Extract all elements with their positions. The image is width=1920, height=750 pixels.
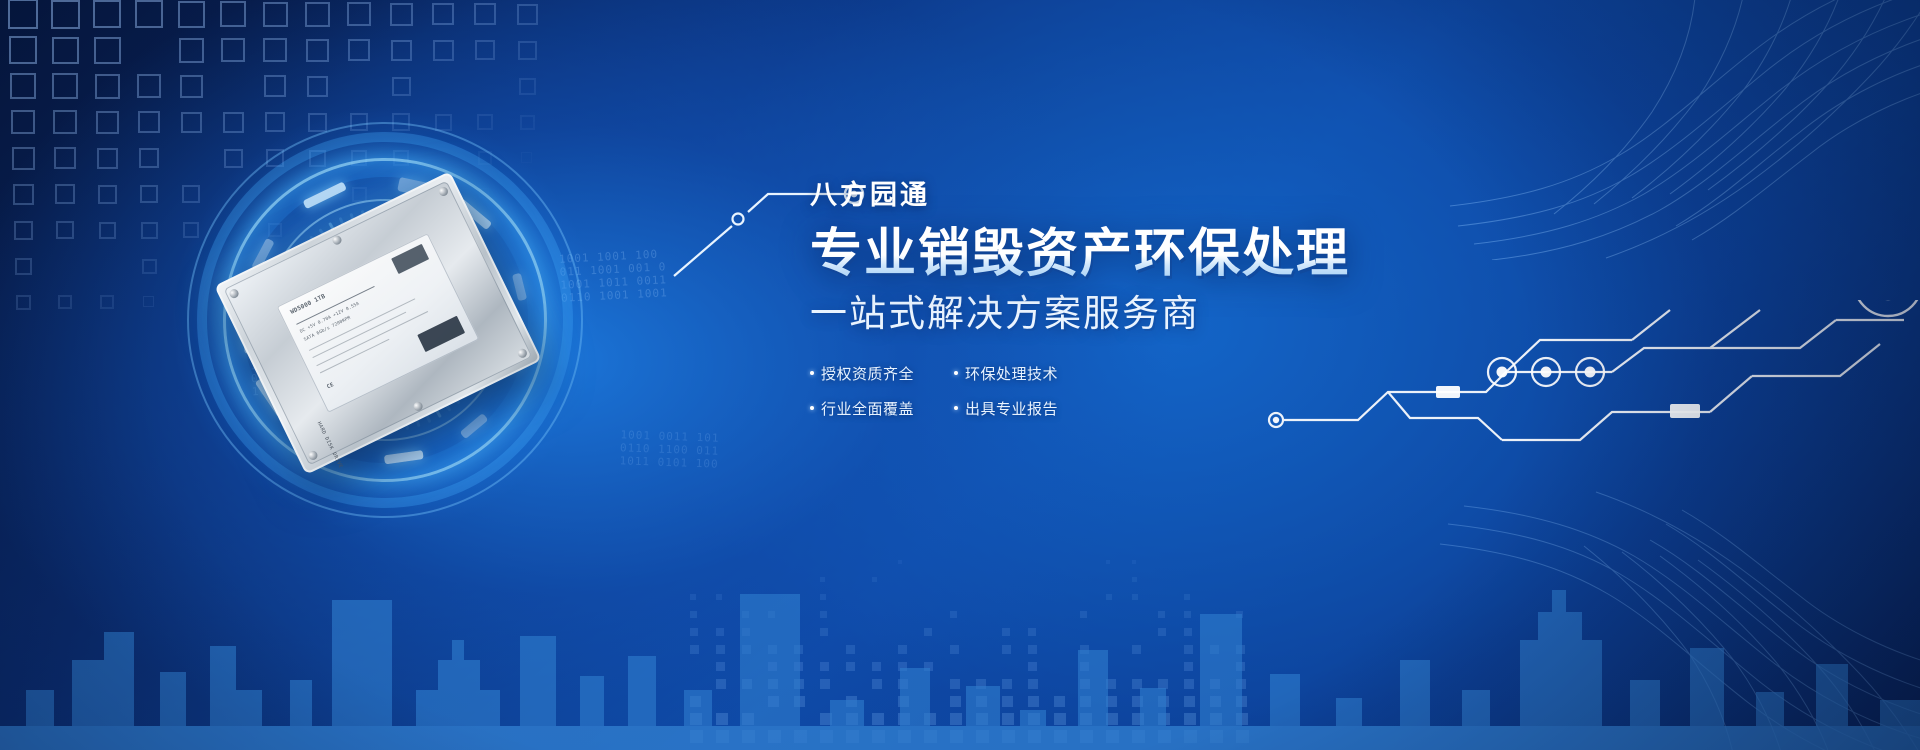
feature-label: 授权资质齐全: [821, 363, 914, 384]
feature-label: 出具专业报告: [965, 398, 1058, 419]
bullet-dot-icon: [954, 406, 958, 410]
subheadline: 一站式解决方案服务商: [810, 294, 1430, 335]
feature-item-3: 行业全面覆盖: [810, 398, 936, 419]
wireframe-mesh-top-right: [1430, 0, 1920, 260]
feature-item-1: 授权资质齐全: [810, 363, 936, 384]
promo-banner: 1001 1001 100 0110 1001 001 1001 1011 00…: [0, 0, 1920, 750]
banner-text-block: 八方园通 专业销毁资产环保处理 一站式解决方案服务商 授权资质齐全 环保处理技术…: [810, 182, 1430, 419]
feature-item-2: 环保处理技术: [954, 363, 1080, 384]
pixel-block-pattern: [690, 560, 1250, 750]
bullet-dot-icon: [810, 406, 814, 410]
headline: 专业销毁资产环保处理: [810, 226, 1430, 282]
feature-list: 授权资质齐全 环保处理技术 行业全面覆盖 出具专业报告: [810, 363, 1430, 419]
binary-stream-lower: 1001 0011 101 0110 1100 011 1011 0101 10…: [619, 428, 719, 470]
hdd-cert-mark: CE: [326, 382, 335, 390]
bullet-dot-icon: [810, 371, 814, 375]
feature-label: 行业全面覆盖: [821, 398, 914, 419]
tech-ring-graphic: WD5000 1TB DC +5V 0.70A +12V 0.55A SATA …: [175, 110, 595, 530]
feature-item-4: 出具专业报告: [954, 398, 1080, 419]
brand-name: 八方园通: [810, 182, 1430, 209]
feature-label: 环保处理技术: [965, 363, 1058, 384]
bullet-dot-icon: [954, 371, 958, 375]
